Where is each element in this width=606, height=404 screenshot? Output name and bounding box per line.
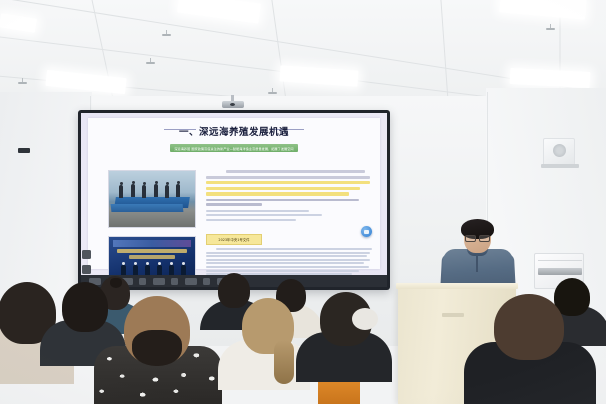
slide-title: 一、深远海养殖发展机遇 [88,124,380,138]
glasses-icon [465,235,490,240]
speaker-mount [541,164,579,168]
slide-citation [206,199,372,207]
screen-side-button[interactable] [82,265,91,274]
screen-surface[interactable]: 一、深远海养殖发展机遇 深远海养殖 国家政策高度关注的新产业—赋能海洋渔业高质量… [81,113,387,279]
presenter-shirt-placket [476,255,478,272]
ceiling-light-panel [0,13,37,32]
ceiling-light-panel [510,68,591,88]
conference-stage-signing-photo [108,236,196,279]
interactive-smart-board[interactable]: 一、深远海养殖发展机遇 深远海养殖 国家政策高度关注的新产业—赋能海洋渔业高质量… [78,110,390,290]
sprinkler-head [146,58,155,66]
lectern-top [396,283,518,289]
lectern-label [442,313,464,317]
ceiling-light-panel [280,65,359,86]
green-banner-text: 深远海养殖 国家政策高度关注的新产业—赋能海洋渔业高质量发展，拓展了发展空间 [174,146,293,151]
ceiling-light-panel [177,0,261,24]
outdoor-aquaculture-site-photo [108,170,196,228]
sprinkler-head [546,24,555,32]
sprinkler-head [162,30,171,38]
wall-speaker [543,138,575,167]
yellow-box-text: 2023年中央1号文件 [218,237,249,242]
sprinkler-head [18,78,27,86]
slide-subnote [206,210,372,221]
slide-green-banner: 深远海养殖 国家政策高度关注的新产业—赋能海洋渔业高质量发展，拓展了发展空间 [170,144,298,152]
ceiling-light-panel [499,0,586,20]
classroom-scene: 一、深远海养殖发展机遇 深远海养殖 国家政策高度关注的新产业—赋能海洋渔业高质量… [0,0,606,404]
ceiling-light-panel [45,70,126,94]
sprinkler-head [268,88,277,96]
wps-assistant-icon[interactable] [361,226,372,237]
slide-body-paragraph [206,170,372,223]
ceiling-camera [222,101,244,108]
ac-panel-line [538,260,582,261]
ac-vent [538,268,582,275]
wall-control-panel[interactable] [18,148,30,153]
slide-card: 一、深远海养殖发展机遇 深远海养殖 国家政策高度关注的新产业—赋能海洋渔业高质量… [88,118,380,269]
screen-side-button[interactable] [82,250,91,259]
slide-yellow-box: 2023年中央1号文件 [206,234,262,245]
